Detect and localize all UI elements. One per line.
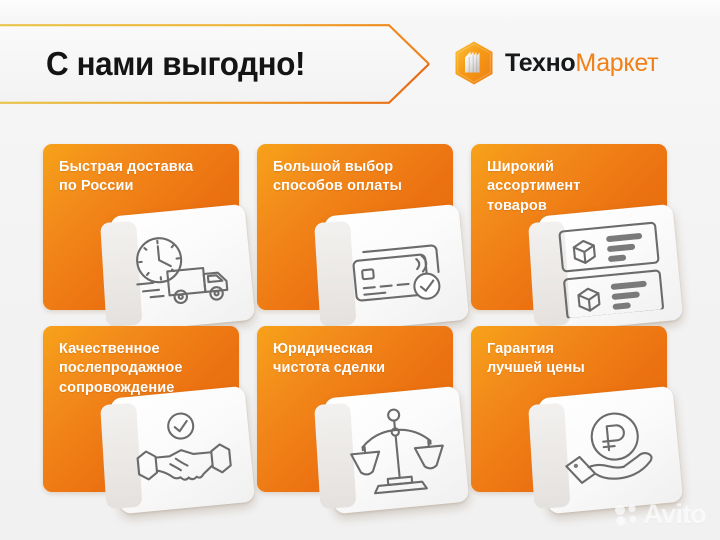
card-illustration-sheet	[324, 204, 469, 332]
technomarket-hex-logo-icon	[452, 40, 496, 86]
page-title: С нами выгодно!	[46, 24, 305, 104]
clock-truck-icon	[123, 223, 242, 313]
brand-logo[interactable]: ТехноМаркет	[452, 40, 658, 86]
benefit-card-payment[interactable]: Большой выбор способов оплаты	[257, 144, 453, 310]
avito-dots-icon	[614, 504, 640, 526]
logo-wordmark: ТехноМаркет	[505, 51, 658, 76]
logo-word-part2: Маркет	[575, 49, 658, 77]
card-title: Быстрая доставка по России	[59, 158, 225, 197]
card-illustration-sheet	[110, 386, 255, 514]
benefit-card-assortment[interactable]: Широкий ассортимент товаров	[471, 144, 667, 310]
card-illustration-sheet	[538, 204, 683, 332]
scales-of-justice-icon	[343, 401, 451, 498]
benefit-card-delivery[interactable]: Быстрая доставка по России	[43, 144, 239, 310]
card-title: Гарантия лучшей цены	[487, 340, 653, 379]
benefit-card-legal[interactable]: Юридическая чистота сделки	[257, 326, 453, 492]
product-list-boxes-icon	[552, 217, 668, 319]
benefit-card-best-price[interactable]: Гарантия лучшей цены	[471, 326, 667, 492]
avito-watermark: Avito	[614, 501, 707, 528]
benefits-grid: Быстрая доставка по России	[43, 144, 673, 494]
card-illustration-sheet	[538, 386, 683, 514]
hand-ruble-coin-icon	[555, 405, 666, 495]
card-illustration-sheet	[110, 204, 255, 332]
benefit-card-aftersales[interactable]: Качественное послепродажное сопровождени…	[43, 326, 239, 492]
header-banner: С нами выгодно!	[0, 24, 430, 104]
card-title: Большой выбор способов оплаты	[273, 158, 439, 197]
avito-watermark-label: Avito	[644, 501, 707, 528]
logo-word-part1: Техно	[505, 49, 575, 77]
card-illustration-sheet	[324, 386, 469, 514]
credit-card-check-icon	[341, 224, 452, 312]
handshake-check-icon	[127, 405, 238, 495]
card-title: Юридическая чистота сделки	[273, 340, 439, 379]
